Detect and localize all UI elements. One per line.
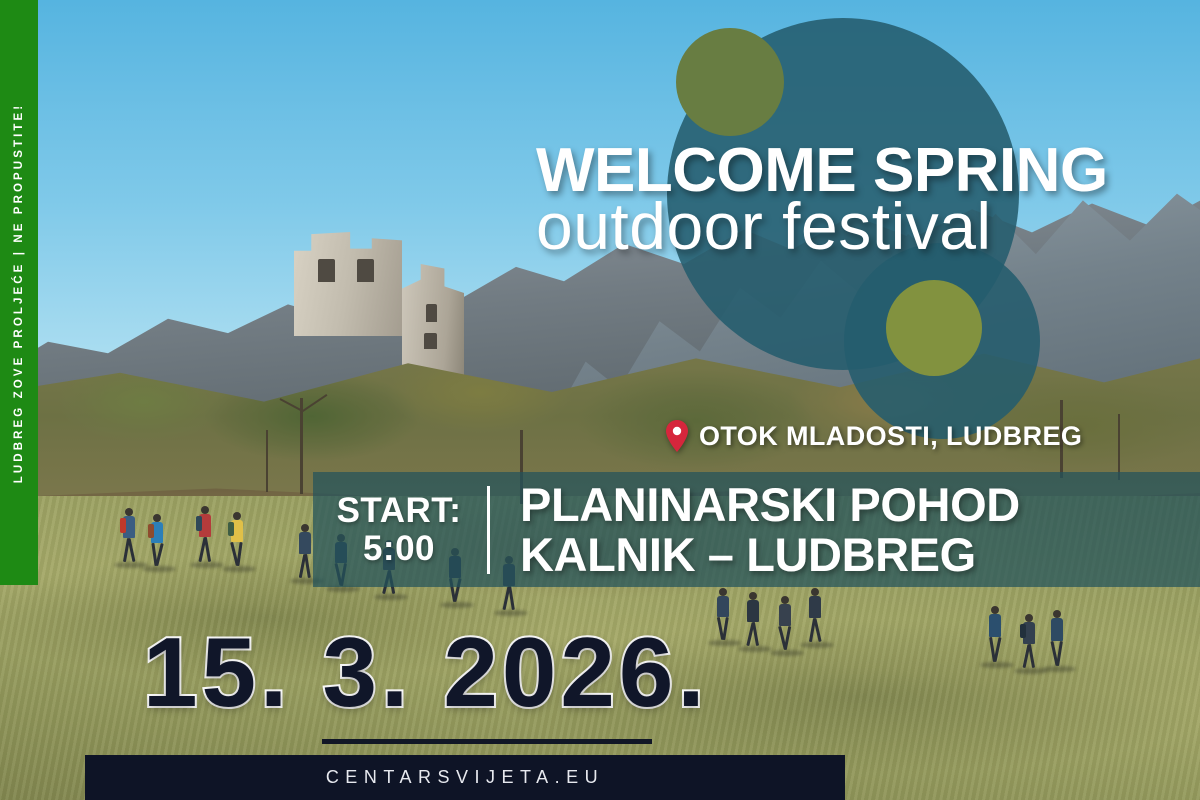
hiker [806,588,824,644]
hiker [714,588,732,642]
start-label: START: [313,492,485,530]
hiker [296,524,314,580]
title-block: WELCOME SPRING outdoor festival [536,142,1186,259]
event-title-block: PLANINARSKI POHOD KALNIK – LUDBREG [494,480,1200,580]
ruin-window [318,259,335,282]
sidebar-tagline: LUDBREG ZOVE PROLJEĆE | NE PROPUSTITE! [13,102,25,482]
hiker [1048,610,1066,668]
divider-rule [322,739,652,744]
event-date: 15. 3. 2026. [143,623,709,721]
hiker [744,592,762,648]
map-pin-icon [665,420,689,452]
hiker [986,606,1004,664]
ruin-window [357,259,374,282]
hiker [196,506,214,564]
hiker [148,514,166,568]
hiker [228,512,246,568]
location-text: OTOK MLADOSTI, LUDBREG [699,421,1082,452]
event-title-line2: KALNIK – LUDBREG [520,530,1200,580]
location-line: OTOK MLADOSTI, LUDBREG [665,420,1082,452]
bare-tree [1118,414,1120,480]
hiker [120,508,138,564]
decor-circle-olive-top [676,28,784,136]
ruin-window [426,304,437,322]
hiker [1020,614,1038,670]
bare-tree [266,430,268,492]
ruin-window [424,333,436,349]
sidebar-banner: LUDBREG ZOVE PROLJEĆE | NE PROPUSTITE! [0,0,38,585]
decor-circle-olive-mid [886,280,982,376]
footer-bar: CENTARSVIJETA.EU [85,755,845,800]
start-time-block: START: 5:00 [313,492,485,568]
info-band: START: 5:00 PLANINARSKI POHOD KALNIK – L… [313,472,1200,587]
band-divider [487,486,490,574]
event-poster: LUDBREG ZOVE PROLJEĆE | NE PROPUSTITE! W… [0,0,1200,800]
hiker [776,596,794,652]
website-url[interactable]: CENTARSVIJETA.EU [326,767,604,788]
event-title-line1: PLANINARSKI POHOD [520,480,1200,530]
start-time: 5:00 [313,530,485,568]
